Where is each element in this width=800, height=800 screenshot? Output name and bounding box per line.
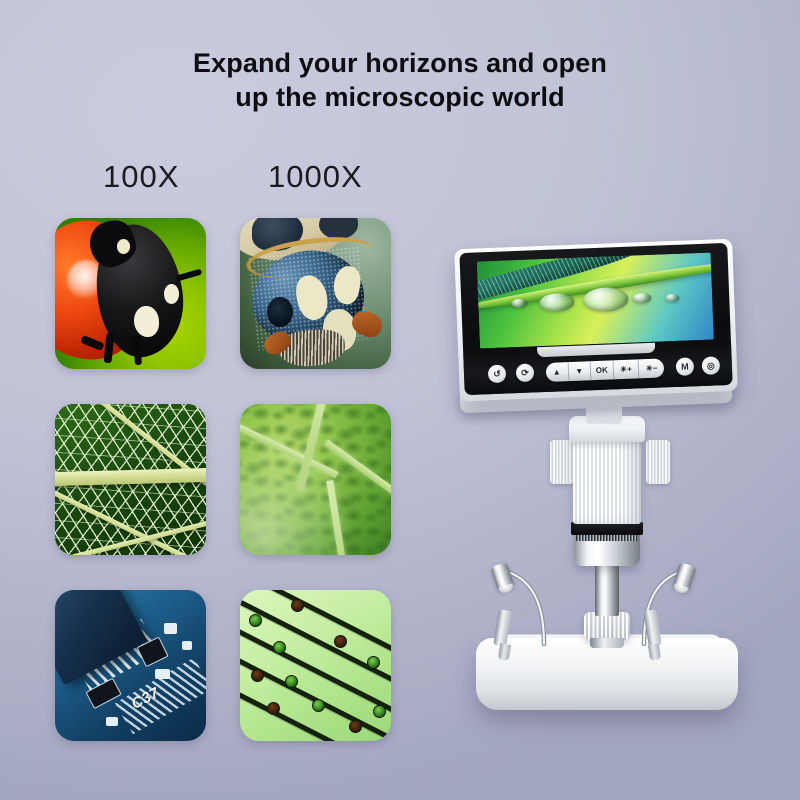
via-hole — [267, 702, 280, 715]
camera-head-body — [573, 436, 641, 524]
brightness-up-button[interactable]: ☀+ — [613, 359, 639, 379]
ok-button[interactable]: OK — [591, 360, 614, 380]
playback-button[interactable]: ⟳ — [516, 363, 535, 382]
focus-collar[interactable] — [584, 612, 630, 640]
headline-line-2: up the microscopic world — [0, 80, 800, 114]
ladybug-scene — [55, 218, 206, 369]
magnification-label-low: 100X — [103, 159, 179, 195]
ladybug-spot — [164, 284, 179, 304]
headline-line-1: Expand your horizons and open — [0, 46, 800, 80]
ladybug-antenna — [175, 269, 201, 282]
sample-tile-ladybug-head — [240, 218, 391, 369]
brightness-down-button[interactable]: ☀− — [639, 358, 664, 378]
via-hole — [251, 669, 264, 682]
sample-tile-pcb-chip: C37 — [55, 590, 206, 741]
via-hole — [249, 614, 262, 627]
solder-pad — [182, 641, 193, 650]
stage-base — [476, 638, 738, 710]
sample-tile-pcb-traces — [240, 590, 391, 741]
gooseneck-foot-right — [648, 643, 661, 661]
up-button[interactable]: ▲ — [546, 362, 569, 382]
digital-microscope: ↺ ⟳ ▲ ▼ OK ☀+ ☀− M ◎ — [440, 240, 780, 720]
via-hole — [373, 705, 386, 718]
pcb-green-scene — [240, 590, 391, 741]
lcd-monitor: ↺ ⟳ ▲ ▼ OK ☀+ ☀− M ◎ — [459, 243, 732, 395]
pcb-blue-scene: C37 — [55, 590, 206, 741]
leaf-cell-scene — [240, 404, 391, 555]
ladybug-spot — [134, 306, 160, 338]
product-marketing-image: Expand your horizons and open up the mic… — [0, 0, 800, 800]
back-button[interactable]: ↺ — [488, 365, 507, 384]
sample-tile-leaf-cells — [240, 404, 391, 555]
copper-trace — [240, 590, 391, 660]
via-hole — [285, 675, 298, 688]
via-hole — [312, 699, 325, 712]
solder-pad — [164, 623, 178, 634]
ladybug-leg — [133, 336, 142, 365]
solder-pad — [155, 669, 170, 680]
ladybug-head-scene — [240, 218, 391, 369]
eye-dark-region — [267, 297, 293, 327]
focus-knob-left[interactable] — [550, 440, 574, 484]
magnification-label-high: 1000X — [268, 159, 363, 195]
navigation-button-cluster: ▲ ▼ OK ☀+ ☀− — [546, 358, 665, 382]
via-hole — [367, 656, 380, 669]
capture-button[interactable]: ◎ — [702, 356, 721, 375]
mode-button[interactable]: M — [676, 357, 695, 376]
via-hole — [291, 599, 304, 612]
sample-tile-ladybug-whole — [55, 218, 206, 369]
collar-base — [590, 638, 624, 648]
page-title: Expand your horizons and open up the mic… — [0, 46, 800, 114]
via-hole — [349, 720, 362, 733]
via-hole — [334, 635, 347, 648]
leaf-vein-scene — [55, 404, 206, 555]
sample-tile-leaf-veins — [55, 404, 206, 555]
lens-knurling — [576, 534, 638, 541]
monitor-bezel: ↺ ⟳ ▲ ▼ OK ☀+ ☀− M ◎ — [459, 243, 732, 395]
focus-knob-right[interactable] — [646, 440, 670, 484]
collar-ribs — [584, 612, 630, 640]
solder-pad — [106, 717, 118, 726]
lcd-screen — [477, 253, 714, 349]
down-button[interactable]: ▼ — [568, 361, 591, 381]
light-haze — [240, 404, 391, 555]
chrome-post — [595, 564, 619, 616]
